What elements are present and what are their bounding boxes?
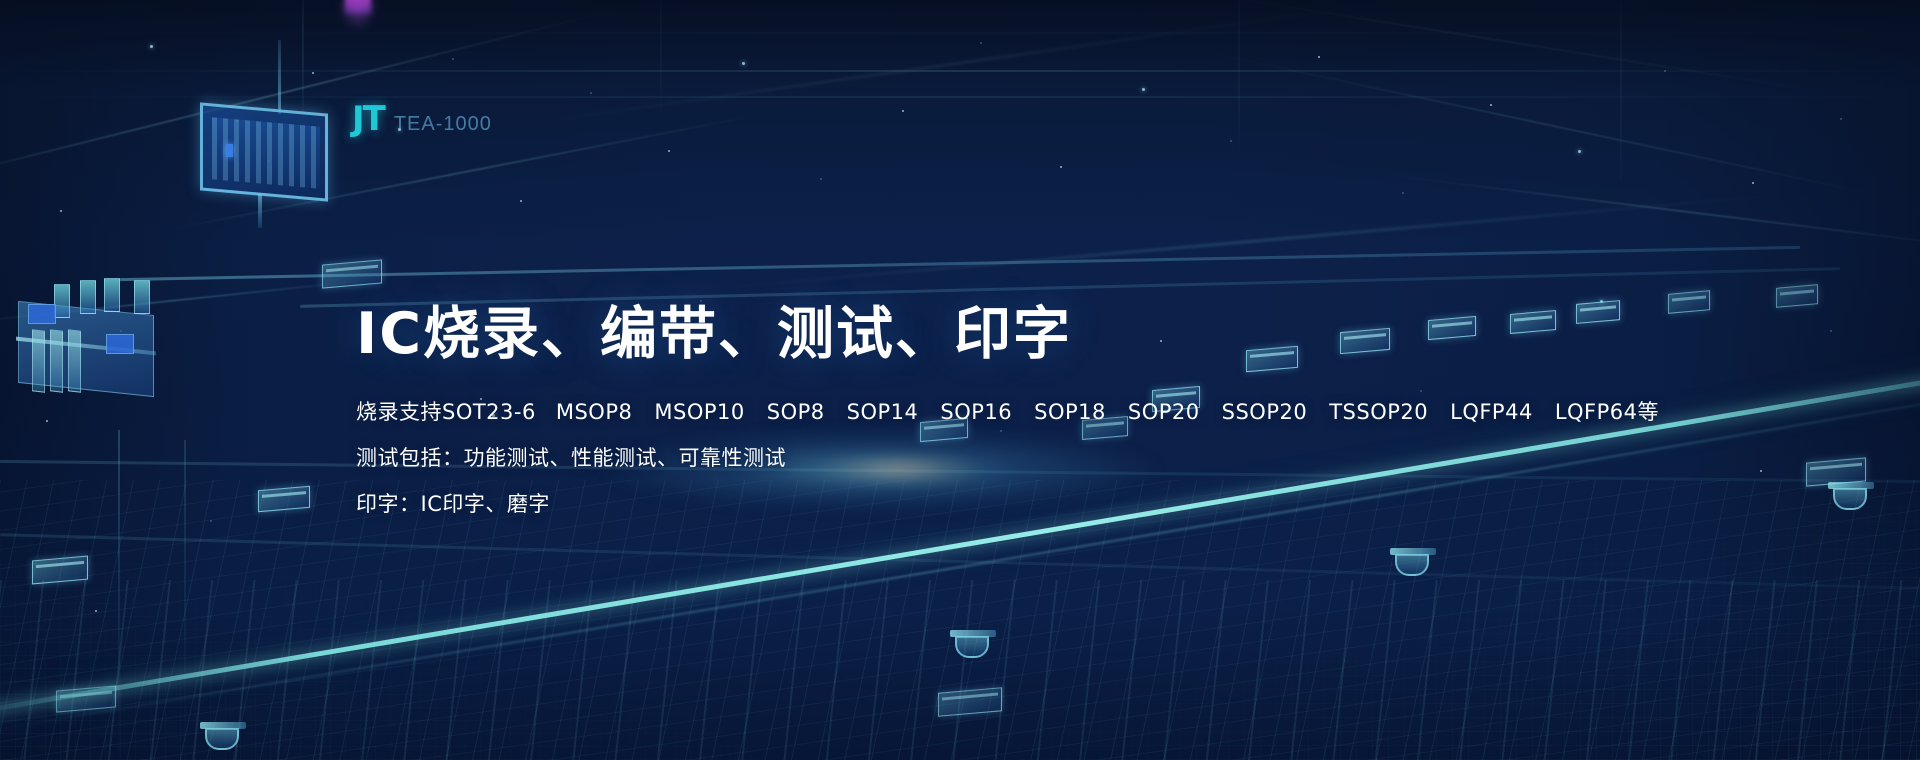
monitor-stand [258, 194, 262, 228]
cart-wheel-4 [1833, 488, 1867, 510]
package-list: MSOP8MSOP10SOP8SOP14SOP16SOP18SOP20SSOP2… [556, 400, 1659, 424]
monitor-screen-indicator [226, 144, 233, 157]
cart-wheel-2 [955, 636, 989, 658]
package-item: SOP18 [1034, 402, 1106, 423]
hero-sublines: 烧录支持SOT23-6MSOP8MSOP10SOP8SOP14SOP16SOP1… [356, 402, 1556, 515]
page-title: IC烧录、编带、测试、印字 [356, 302, 1556, 368]
subline-packages: 烧录支持SOT23-6MSOP8MSOP10SOP8SOP14SOP16SOP1… [356, 402, 1556, 423]
cart-wheel-3 [1395, 554, 1429, 576]
machine-fin-1 [32, 329, 45, 393]
machine-cylinder-4 [134, 280, 150, 314]
top-glow-artifact [345, 0, 371, 14]
package-item: LQFP44 [1450, 402, 1533, 423]
tray-shelf-10 [32, 556, 88, 585]
tray-shelf-6 [1576, 300, 1620, 324]
tray-shelf-7 [1668, 290, 1710, 314]
hero-banner: JT TEA-1000 IC烧录、编带、测试、印字 烧录支持SOT23-6MSO… [0, 0, 1920, 760]
machine-fin-3 [68, 329, 81, 393]
machine-control-box-1 [28, 304, 56, 324]
brand-logo-text: JT [352, 102, 384, 136]
machine-left-assembly [10, 278, 170, 408]
machine-control-box-2 [106, 334, 134, 354]
machine-fin-2 [50, 329, 63, 393]
package-item: TSSOP20 [1329, 402, 1428, 423]
package-item: SSOP20 [1222, 402, 1308, 423]
package-item: SOP8 [767, 402, 825, 423]
hero-copy: IC烧录、编带、测试、印字 烧录支持SOT23-6MSOP8MSOP10SOP8… [356, 302, 1556, 515]
equipment-brand-mark: JT TEA-1000 [352, 102, 492, 136]
tray-shelf-8 [1776, 284, 1818, 308]
machine-cylinder-3 [104, 278, 120, 312]
machine-cylinder-1 [54, 284, 70, 318]
package-item: SOP20 [1128, 402, 1200, 423]
brand-model-text: TEA-1000 [394, 114, 492, 134]
package-item: SOP16 [940, 402, 1012, 423]
package-item: SOP14 [847, 402, 919, 423]
package-item: LQFP64等 [1555, 402, 1659, 423]
machine-cylinder-2 [80, 280, 96, 314]
tray-shelf-9 [258, 486, 310, 513]
monitor-arm [278, 40, 281, 114]
monitor-display [200, 108, 328, 196]
subline-marking: 印字：IC印字、磨字 [356, 494, 1556, 515]
subline-testing: 测试包括：功能测试、性能测试、可靠性测试 [356, 448, 1556, 469]
package-item: MSOP10 [654, 402, 744, 423]
cart-wheel-1 [205, 728, 239, 750]
packages-lead-label: 烧录支持SOT23-6 [356, 402, 536, 423]
package-item: MSOP8 [556, 402, 633, 423]
